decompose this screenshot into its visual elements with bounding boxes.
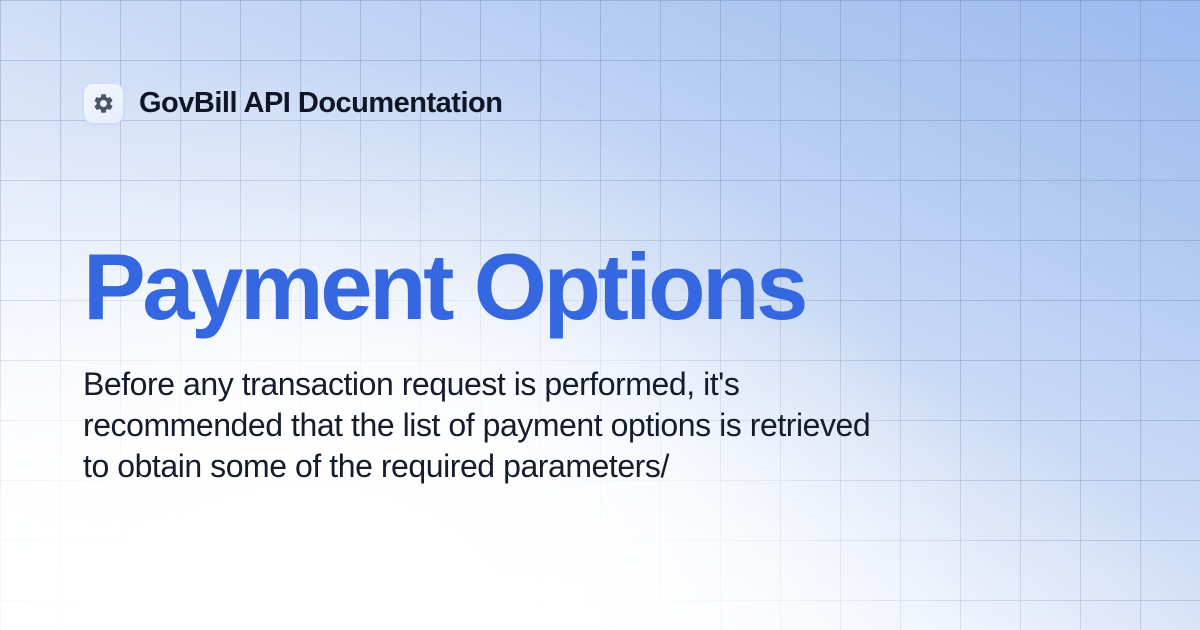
og-card: GovBill API Documentation Payment Option… <box>0 0 1200 630</box>
page-title: Payment Options <box>83 239 983 336</box>
content-wrapper: GovBill API Documentation Payment Option… <box>0 0 1200 630</box>
gear-icon <box>92 92 115 115</box>
brand-title: GovBill API Documentation <box>139 89 502 118</box>
brand-row: GovBill API Documentation <box>83 82 1120 124</box>
brand-icon-badge <box>83 83 124 124</box>
page-description: Before any transaction request is perfor… <box>83 364 873 487</box>
